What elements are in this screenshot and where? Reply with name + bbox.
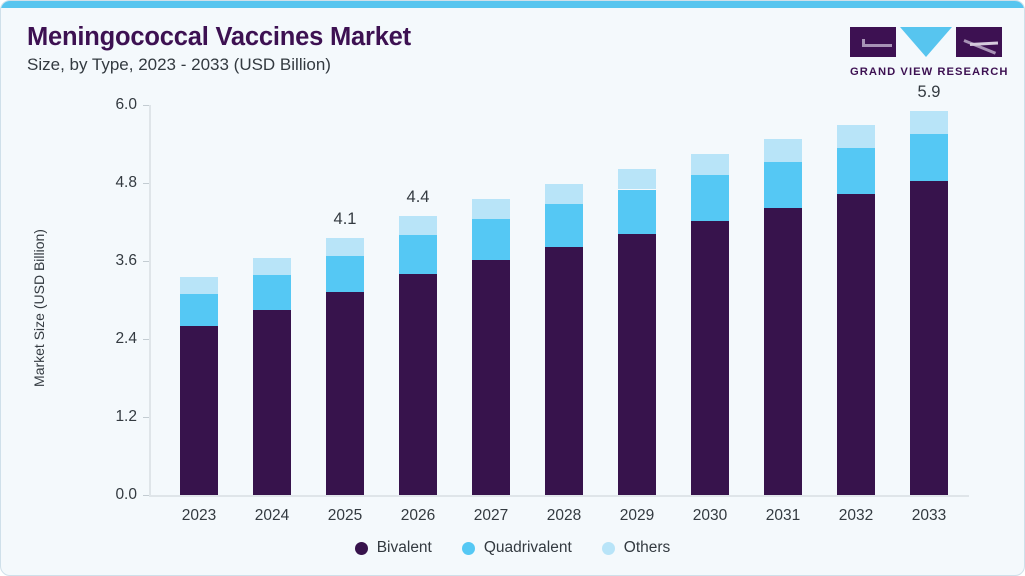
- bar-group[interactable]: [910, 105, 948, 495]
- bar-group[interactable]: [691, 105, 729, 495]
- bar-segment-bivalent[interactable]: [326, 292, 364, 495]
- y-axis-tick-mark: [143, 261, 149, 262]
- y-axis-title: Market Size (USD Billion): [31, 158, 47, 458]
- y-axis-tick-mark: [143, 105, 149, 106]
- bar-segment-bivalent[interactable]: [910, 181, 948, 495]
- bar-segment-others[interactable]: [545, 184, 583, 204]
- bar-segment-quadrivalent[interactable]: [910, 134, 948, 181]
- bar-segment-others[interactable]: [910, 111, 948, 134]
- x-axis-tick-label: 2028: [524, 507, 604, 525]
- bar-segment-others[interactable]: [691, 154, 729, 175]
- x-axis-tick-label: 2033: [889, 507, 969, 525]
- bar-group[interactable]: [180, 105, 218, 495]
- y-axis-tick-mark: [143, 495, 149, 496]
- x-axis-tick-label: 2030: [670, 507, 750, 525]
- bar-segment-quadrivalent[interactable]: [399, 235, 437, 274]
- bar-segment-quadrivalent[interactable]: [180, 294, 218, 327]
- bar-segment-quadrivalent[interactable]: [472, 219, 510, 260]
- bar-segment-bivalent[interactable]: [399, 274, 437, 495]
- x-axis-tick-label: 2027: [451, 507, 531, 525]
- legend-item[interactable]: Quadrivalent: [462, 539, 572, 557]
- bar-segment-bivalent[interactable]: [618, 234, 656, 495]
- bar-segment-others[interactable]: [253, 258, 291, 275]
- bar-segment-quadrivalent[interactable]: [691, 175, 729, 221]
- bar-segment-others[interactable]: [326, 238, 364, 256]
- x-axis-tick-label: 2026: [378, 507, 458, 525]
- y-axis-tick-label: 6.0: [93, 96, 137, 114]
- x-axis-tick-label: 2023: [159, 507, 239, 525]
- bar-segment-bivalent[interactable]: [691, 221, 729, 495]
- y-axis-tick-label: 3.6: [93, 252, 137, 270]
- bar-segment-quadrivalent[interactable]: [326, 256, 364, 292]
- bar-segment-quadrivalent[interactable]: [837, 148, 875, 194]
- bar-segment-others[interactable]: [618, 169, 656, 190]
- bar-value-label: 5.9: [894, 83, 964, 102]
- chart-legend: BivalentQuadrivalentOthers: [1, 539, 1024, 557]
- legend-label: Quadrivalent: [484, 539, 572, 557]
- bar-segment-bivalent[interactable]: [764, 208, 802, 495]
- bar-group[interactable]: [253, 105, 291, 495]
- bar-segment-quadrivalent[interactable]: [253, 275, 291, 309]
- x-axis-tick-label: 2031: [743, 507, 823, 525]
- bar-group[interactable]: [326, 105, 364, 495]
- legend-color-swatch: [355, 542, 368, 555]
- x-axis-line: [149, 495, 969, 497]
- y-axis-tick-mark: [143, 339, 149, 340]
- bar-group[interactable]: [399, 105, 437, 495]
- bar-segment-others[interactable]: [399, 216, 437, 235]
- bar-value-label: 4.4: [383, 188, 453, 207]
- y-axis-tick-label: 1.2: [93, 408, 137, 426]
- bar-segment-others[interactable]: [837, 125, 875, 148]
- bar-group[interactable]: [472, 105, 510, 495]
- y-axis-tick-label: 2.4: [93, 330, 137, 348]
- x-axis-tick-label: 2029: [597, 507, 677, 525]
- chart-plot-area: Market Size (USD Billion)0.01.22.43.64.8…: [1, 1, 1025, 576]
- legend-color-swatch: [462, 542, 475, 555]
- bar-group[interactable]: [764, 105, 802, 495]
- bar-segment-bivalent[interactable]: [253, 310, 291, 495]
- legend-item[interactable]: Others: [602, 539, 671, 557]
- bar-group[interactable]: [618, 105, 656, 495]
- bar-group[interactable]: [837, 105, 875, 495]
- bar-segment-quadrivalent[interactable]: [618, 190, 656, 234]
- bar-segment-bivalent[interactable]: [837, 194, 875, 495]
- chart-card: Meningococcal Vaccines Market Size, by T…: [0, 0, 1025, 576]
- bar-segment-quadrivalent[interactable]: [545, 204, 583, 247]
- legend-item[interactable]: Bivalent: [355, 539, 432, 557]
- legend-label: Others: [624, 539, 671, 557]
- y-axis-tick-mark: [143, 417, 149, 418]
- y-axis-tick-label: 0.0: [93, 486, 137, 504]
- x-axis-tick-label: 2025: [305, 507, 385, 525]
- y-axis-tick-label: 4.8: [93, 174, 137, 192]
- bar-segment-others[interactable]: [764, 139, 802, 161]
- bar-value-label: 4.1: [310, 210, 380, 229]
- y-axis-tick-mark: [143, 183, 149, 184]
- x-axis-tick-label: 2024: [232, 507, 312, 525]
- bar-group[interactable]: [545, 105, 583, 495]
- bar-segment-quadrivalent[interactable]: [764, 162, 802, 208]
- bar-segment-bivalent[interactable]: [180, 326, 218, 495]
- legend-color-swatch: [602, 542, 615, 555]
- y-axis-line: [149, 105, 151, 495]
- bar-segment-others[interactable]: [180, 277, 218, 293]
- legend-label: Bivalent: [377, 539, 432, 557]
- bar-segment-bivalent[interactable]: [472, 260, 510, 495]
- bar-segment-others[interactable]: [472, 199, 510, 219]
- bar-segment-bivalent[interactable]: [545, 247, 583, 495]
- x-axis-tick-label: 2032: [816, 507, 896, 525]
